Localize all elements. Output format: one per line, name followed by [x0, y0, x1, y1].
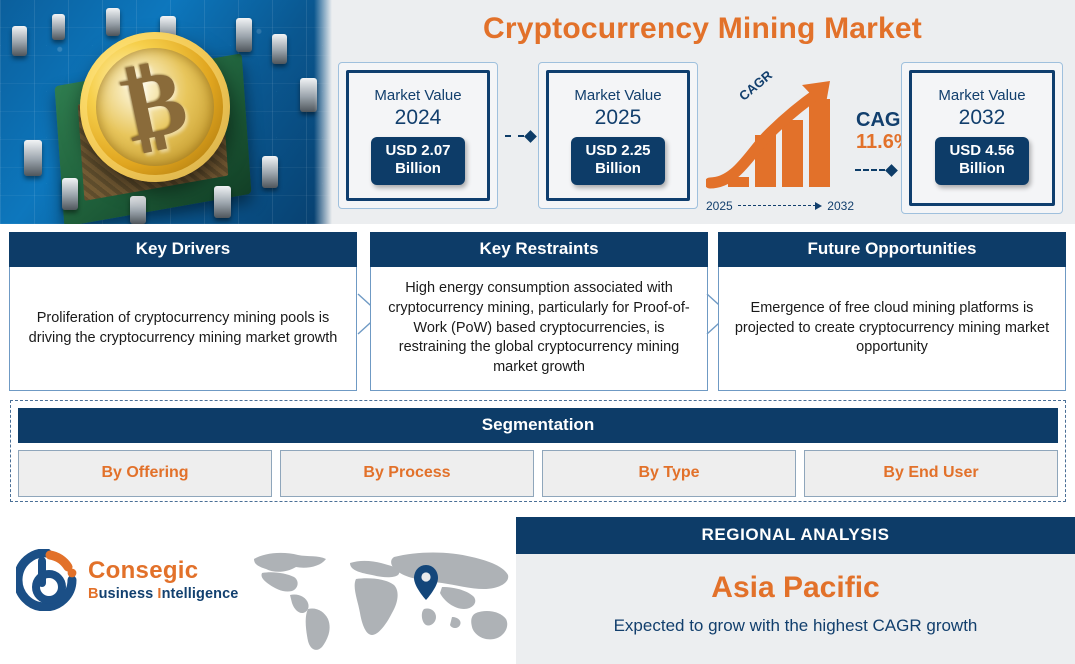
panel-key-restraints: Key Restraints High energy consumption a…	[370, 232, 708, 391]
card-unit: Billion	[585, 160, 650, 178]
capacitor	[12, 26, 27, 56]
segmentation-chip-by-type[interactable]: By Type	[542, 450, 796, 497]
connector-diamond-icon	[885, 164, 898, 177]
hero-section: ₿ Cryptocurrency Mining Market Market Va…	[0, 0, 1075, 224]
regional-analysis-section: REGIONAL ANALYSIS Asia Pacific Expected …	[516, 517, 1075, 660]
panel-text: High energy consumption associated with …	[370, 267, 708, 391]
market-value-card-2025: Market Value 2025 USD 2.25 Billion	[538, 62, 698, 209]
panel-heading: Key Drivers	[9, 232, 357, 267]
card-value: USD 4.56	[949, 142, 1014, 160]
infographic-root: ₿ Cryptocurrency Mining Market Market Va…	[0, 0, 1075, 660]
company-logo: Consegic Business Intelligence	[16, 548, 246, 612]
cagr-arrow-icon	[706, 79, 854, 191]
logo-tagline-b: B	[88, 586, 99, 602]
cagr-axis: 2025 2032	[706, 199, 854, 213]
segmentation-chip-by-offering[interactable]: By Offering	[18, 450, 272, 497]
connector-line	[505, 135, 524, 137]
world-map	[246, 543, 518, 655]
connector-2024-2025	[505, 131, 535, 141]
segmentation-heading: Segmentation	[18, 408, 1058, 443]
logo-wordmark: Consegic Business Intelligence	[88, 559, 238, 602]
card-value-pill: USD 2.07 Billion	[371, 137, 464, 185]
panel-heading: Future Opportunities	[718, 232, 1066, 267]
card-inner: Market Value 2024 USD 2.07 Billion	[346, 70, 490, 201]
panel-heading: Key Restraints	[370, 232, 708, 267]
card-year: 2025	[595, 106, 642, 130]
capacitor	[52, 14, 65, 40]
panel-text: Proliferation of cryptocurrency mining p…	[9, 267, 357, 391]
segmentation-chip-by-end-user[interactable]: By End User	[804, 450, 1058, 497]
connector-cagr-2032	[855, 165, 896, 175]
cagr-growth-chart-icon: CAGR 2025 2032	[706, 78, 854, 213]
capacitor	[24, 140, 42, 176]
bitcoin-symbol-icon: ₿	[66, 16, 244, 194]
regional-analysis-body: Asia Pacific Expected to grow with the h…	[516, 554, 1075, 664]
capacitor	[106, 8, 120, 36]
capacitor	[236, 18, 252, 52]
segmentation-section: Segmentation By Offering By Process By T…	[10, 400, 1066, 502]
card-label: Market Value	[938, 87, 1025, 104]
segmentation-chip-row: By Offering By Process By Type By End Us…	[18, 450, 1058, 497]
cagr-end-year: 2032	[827, 199, 854, 213]
photo-edge-fade	[314, 0, 332, 224]
connector-diamond-icon	[524, 130, 537, 143]
card-year: 2032	[959, 106, 1006, 130]
capacitor	[272, 34, 287, 64]
logo-tagline-ntelligence: ntelligence	[162, 586, 239, 602]
capacitor	[130, 196, 146, 224]
segmentation-chip-by-process[interactable]: By Process	[280, 450, 534, 497]
connector-line	[855, 169, 885, 171]
panel-future-opportunities: Future Opportunities Emergence of free c…	[718, 232, 1066, 391]
cagr-axis-arrow-icon	[738, 202, 823, 210]
card-value-pill: USD 2.25 Billion	[571, 137, 664, 185]
market-value-card-2024: Market Value 2024 USD 2.07 Billion	[338, 62, 498, 209]
card-label: Market Value	[574, 87, 661, 104]
card-inner: Market Value 2032 USD 4.56 Billion	[909, 70, 1055, 206]
card-inner: Market Value 2025 USD 2.25 Billion	[546, 70, 690, 201]
panel-key-drivers: Key Drivers Proliferation of cryptocurre…	[9, 232, 357, 391]
cagr-start-year: 2025	[706, 199, 733, 213]
card-unit: Billion	[949, 160, 1014, 178]
capacitor	[262, 156, 278, 188]
logo-company-name: Consegic	[88, 559, 238, 583]
card-value-pill: USD 4.56 Billion	[935, 137, 1028, 185]
regional-analysis-note: Expected to grow with the highest CAGR g…	[516, 616, 1075, 636]
regional-analysis-heading: REGIONAL ANALYSIS	[516, 517, 1075, 554]
logo-tagline: Business Intelligence	[88, 587, 238, 602]
card-year: 2024	[395, 106, 442, 130]
card-unit: Billion	[385, 160, 450, 178]
card-label: Market Value	[374, 87, 461, 104]
page-title: Cryptocurrency Mining Market	[340, 12, 1065, 46]
panel-text: Emergence of free cloud mining platforms…	[718, 267, 1066, 391]
logo-tagline-usiness: usiness	[99, 586, 158, 602]
card-value: USD 2.25	[585, 142, 650, 160]
capacitor	[214, 186, 231, 218]
capacitor	[62, 178, 78, 210]
market-value-card-2032: Market Value 2032 USD 4.56 Billion	[901, 62, 1063, 214]
card-value: USD 2.07	[385, 142, 450, 160]
regional-analysis-region: Asia Pacific	[516, 571, 1075, 605]
bitcoin-circuit-photo: ₿	[0, 0, 332, 224]
consegic-b-logo-icon	[16, 549, 78, 611]
location-pin-icon	[414, 565, 438, 600]
